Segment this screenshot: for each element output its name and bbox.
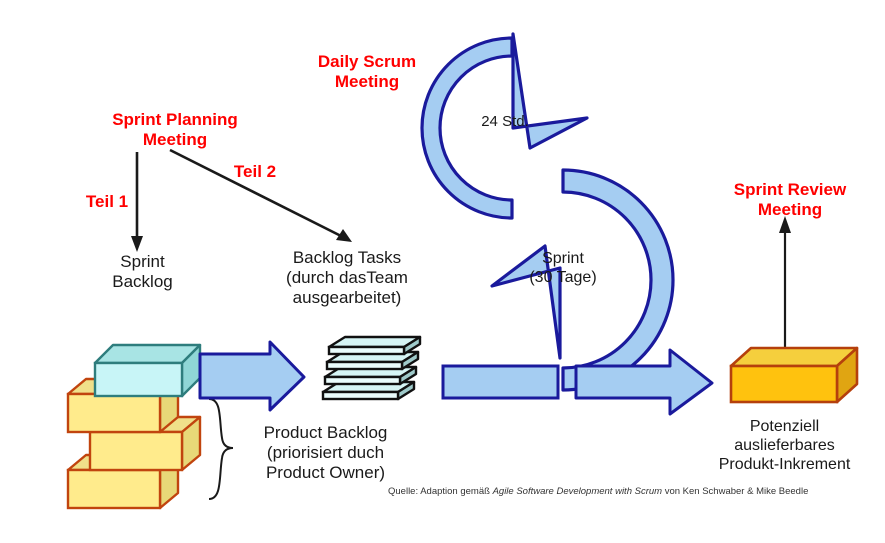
label-daily-scrum-meeting: Daily Scrum Meeting [272, 52, 462, 92]
label-backlog-tasks: Backlog Tasks (durch dasTeam ausgearbeit… [252, 248, 442, 308]
label-teil-1: Teil 1 [72, 192, 142, 212]
label-product-backlog: Product Backlog (priorisiert duch Produc… [228, 423, 423, 483]
source-work-title: Agile Software Development with Scrum [493, 486, 663, 497]
label-sprint-planning-meeting: Sprint Planning Meeting [60, 110, 290, 150]
sprint-review-arrow [779, 216, 791, 350]
label-sprint-review-meeting: Sprint Review Meeting [700, 180, 880, 220]
source-prefix: Quelle: Adaption gemäß [388, 486, 493, 497]
source-suffix: von Ken Schwaber & Mike Beedle [662, 486, 808, 497]
scrum-process-diagram: Sprint Planning Meeting Teil 1 Teil 2 Da… [0, 0, 885, 543]
label-teil-2: Teil 2 [215, 162, 295, 182]
arrow-sprint-to-increment [576, 350, 712, 414]
source-citation: Quelle: Adaption gemäß Agile Software De… [388, 486, 868, 497]
label-cycle-sprint-30-days: Sprint (30 Tage) [498, 250, 628, 288]
label-sprint-backlog: Sprint Backlog [85, 252, 200, 292]
backlog-task-sheets [323, 337, 420, 399]
product-backlog-stack [68, 379, 200, 508]
arrow-backlog-to-tasks [200, 342, 304, 410]
label-product-increment: Potenziell auslieferbares Produkt-Inkrem… [692, 418, 877, 475]
sprint-backlog-box [95, 345, 200, 396]
product-increment-box [731, 348, 857, 402]
label-cycle-24-hours: 24 Std. [460, 113, 550, 131]
task-sheet-1 [329, 337, 420, 354]
arrow-tasks-into-sprint [443, 366, 558, 398]
